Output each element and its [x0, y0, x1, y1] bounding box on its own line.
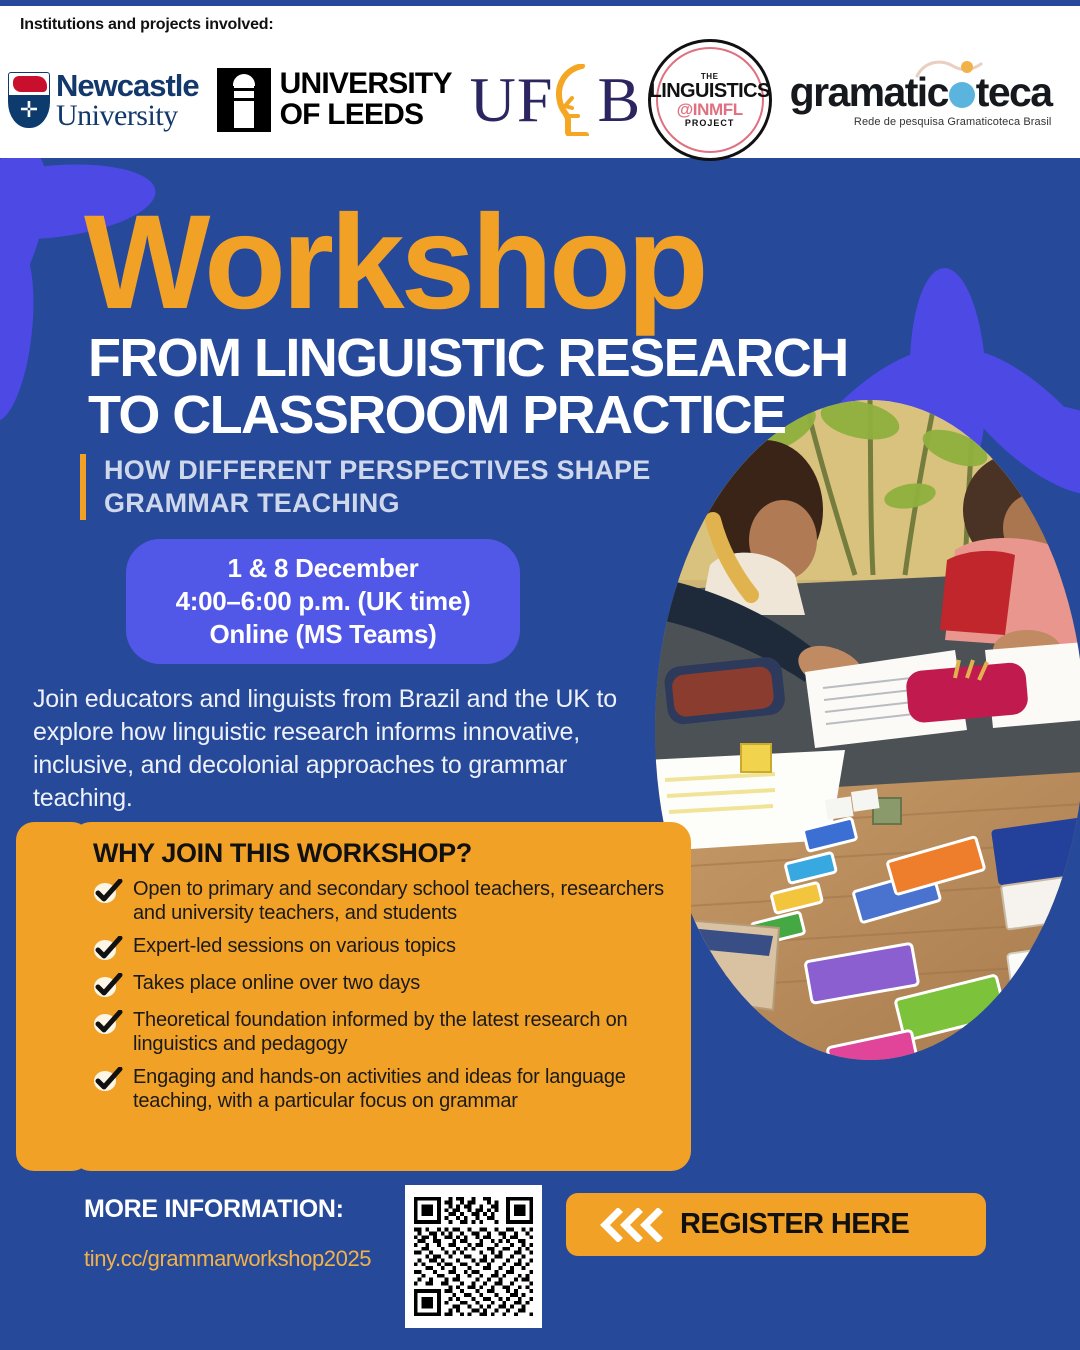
more-information-url[interactable]: tiny.cc/grammarworkshop2025	[84, 1246, 404, 1272]
check-icon	[93, 879, 123, 905]
gramaticoteca-logo: gramaticteca Rede de pesquisa Gramaticot…	[790, 72, 1052, 128]
ufrb-face-profile-icon	[552, 64, 596, 136]
why-join-item: Engaging and hands-on activities and ide…	[93, 1065, 671, 1113]
workshop-main-title: FROM LINGUISTIC RESEARCH TO CLASSROOM PR…	[88, 330, 918, 443]
newcastle-shield-icon: ✛	[8, 72, 50, 128]
why-join-item-label: Expert-led sessions on various topics	[133, 934, 456, 959]
more-information-label: MORE INFORMATION:	[84, 1195, 404, 1224]
check-icon	[93, 973, 123, 999]
page-title: Workshop	[84, 196, 705, 330]
linguistics-logo-main: LINGUISTICS	[650, 81, 770, 101]
ufrb-logo: UFB	[470, 60, 630, 140]
why-join-item: Theoretical foundation informed by the l…	[93, 1008, 671, 1056]
university-of-leeds-logo: UNIVERSITY OF LEEDS	[217, 68, 452, 132]
linguistics-logo-at: @INMFL	[650, 101, 770, 118]
check-icon	[93, 936, 123, 962]
why-join-title: WHY JOIN THIS WORKSHOP?	[93, 838, 671, 869]
why-join-item: Takes place online over two days	[93, 971, 671, 999]
chevron-left-triple-icon	[598, 1208, 664, 1242]
linguistics-inmfl-project-logo: THE LINGUISTICS @INMFL PROJECT	[648, 39, 772, 161]
newcastle-logo-line2: University	[56, 101, 199, 131]
why-join-item: Expert-led sessions on various topics	[93, 934, 671, 962]
workshop-photo	[655, 400, 1080, 1060]
leeds-logo-line1: UNIVERSITY	[280, 69, 452, 100]
event-details-pill: 1 & 8 December 4:00–6:00 p.m. (UK time) …	[126, 539, 520, 664]
check-icon	[93, 1067, 123, 1093]
newcastle-logo-line1: Newcastle	[56, 70, 199, 101]
register-button-label: REGISTER HERE	[680, 1208, 909, 1241]
subtitle-container: HOW DIFFERENT PERSPECTIVES SHAPE GRAMMAR…	[80, 454, 680, 520]
why-join-item-label: Open to primary and secondary school tea…	[133, 877, 671, 925]
check-icon	[93, 1010, 123, 1036]
event-location: Online (MS Teams)	[209, 619, 436, 650]
newcastle-university-logo: ✛ Newcastle University	[8, 70, 199, 131]
why-join-item-label: Engaging and hands-on activities and ide…	[133, 1065, 671, 1113]
why-join-item-label: Theoretical foundation informed by the l…	[133, 1008, 671, 1056]
workshop-subtitle: HOW DIFFERENT PERSPECTIVES SHAPE GRAMMAR…	[104, 454, 680, 520]
why-join-item-label: Takes place online over two days	[133, 971, 420, 996]
event-time: 4:00–6:00 p.m. (UK time)	[176, 586, 471, 617]
qr-code[interactable]	[405, 1185, 542, 1328]
leeds-tower-icon	[217, 68, 271, 132]
gramaticoteca-word-b: teca	[976, 69, 1052, 115]
ufrb-letters-left: UF	[470, 64, 554, 135]
register-button[interactable]: REGISTER HERE	[566, 1193, 986, 1256]
logo-row: ✛ Newcastle University UNIVERSITY OF LEE…	[8, 48, 1072, 152]
leeds-logo-line2: OF LEEDS	[280, 100, 452, 131]
gramaticoteca-cloud-icon	[915, 59, 985, 79]
why-join-panel: WHY JOIN THIS WORKSHOP? Open to primary …	[71, 822, 691, 1171]
ufrb-letters-right: B	[597, 64, 641, 135]
linguistics-logo-project: PROJECT	[650, 119, 770, 128]
logo-bar-title: Institutions and projects involved:	[20, 16, 273, 34]
why-join-item: Open to primary and secondary school tea…	[93, 877, 671, 925]
more-information-block: MORE INFORMATION: tiny.cc/grammarworksho…	[84, 1195, 404, 1272]
gramaticoteca-subtitle: Rede de pesquisa Gramaticoteca Brasil	[790, 116, 1052, 128]
intro-paragraph: Join educators and linguists from Brazil…	[33, 683, 648, 815]
institutions-logo-bar: Institutions and projects involved: ✛ Ne…	[0, 6, 1080, 158]
event-date: 1 & 8 December	[228, 553, 419, 584]
gramaticoteca-dot-icon	[949, 82, 975, 108]
